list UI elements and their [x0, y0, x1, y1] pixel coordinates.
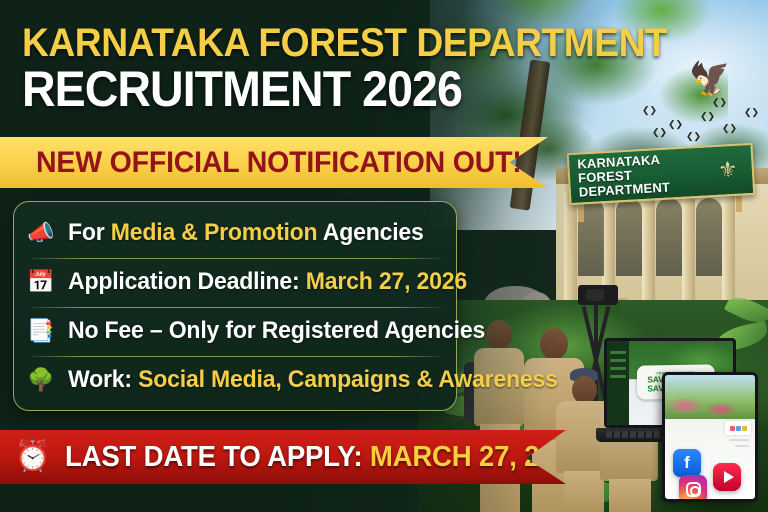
detail-row: 🌳 Work: Social Media, Campaigns & Awaren… — [26, 356, 442, 404]
notification-ribbon: NEW OFFICIAL NOTIFICATION OUT! — [0, 137, 548, 188]
detail-text-plain: Work: — [68, 366, 138, 393]
poster-content: KARNATAKA FOREST DEPARTMENT RECRUITMENT … — [0, 0, 768, 512]
recruitment-poster: KARNATAKA FOREST DEPARTMENT ⚜ 🦅 ❮❯ ❮❯ ❮❯… — [0, 0, 768, 512]
last-date-value: MARCH 27, 2026 — [370, 441, 585, 473]
last-date-text: LAST DATE TO APPLY: MARCH 27, 2026 — [65, 441, 585, 474]
detail-text-highlight: Media & Promotion — [111, 219, 318, 246]
detail-text-plain: For — [68, 219, 111, 246]
megaphone-icon: 📣 — [26, 218, 56, 248]
detail-text-plain: No Fee – Only for Registered Agencies — [68, 317, 485, 344]
detail-text-highlight: Social Media, Campaigns & Awareness — [138, 366, 558, 393]
detail-row: 📣 For Media & Promotion Agencies — [26, 209, 442, 257]
calendar-icon: 📅 — [26, 267, 56, 297]
last-date-alert-bar: ⏰ LAST DATE TO APPLY: MARCH 27, 2026 — [0, 430, 566, 484]
document-icon: 📑 — [26, 316, 56, 346]
page-title-line-2: RECRUITMENT 2026 — [22, 62, 462, 116]
details-card: 📣 For Media & Promotion Agencies 📅 Appli… — [13, 201, 457, 411]
tree-icon: 🌳 — [26, 365, 56, 395]
notification-ribbon-text: NEW OFFICIAL NOTIFICATION OUT! — [36, 146, 522, 180]
detail-text-highlight: March 27, 2026 — [306, 268, 467, 295]
page-title-line-1: KARNATAKA FOREST DEPARTMENT — [22, 22, 667, 64]
detail-row-text: No Fee – Only for Registered Agencies — [68, 317, 485, 345]
detail-row-text: Work: Social Media, Campaigns & Awarenes… — [68, 366, 558, 394]
detail-text-tail: Agencies — [317, 219, 423, 246]
detail-text-plain: Application Deadline: — [68, 268, 306, 295]
last-date-label: LAST DATE TO APPLY: — [65, 441, 362, 473]
detail-row: 📑 No Fee – Only for Registered Agencies — [26, 307, 442, 355]
detail-row-text: For Media & Promotion Agencies — [68, 219, 424, 247]
detail-row: 📅 Application Deadline: March 27, 2026 — [26, 258, 442, 306]
detail-row-text: Application Deadline: March 27, 2026 — [68, 268, 467, 296]
alarm-clock-icon: ⏰ — [14, 442, 51, 472]
